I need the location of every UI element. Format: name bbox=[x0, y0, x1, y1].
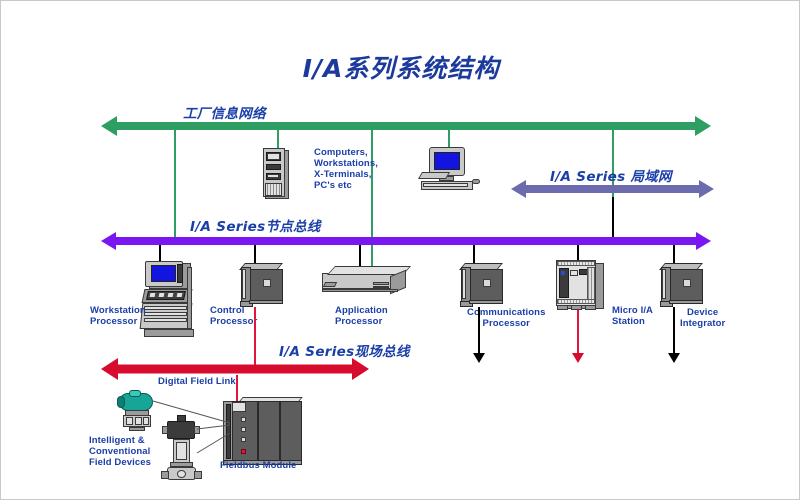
device-label-line2: Integrator bbox=[680, 318, 725, 329]
ia-fieldbus-label: I/A Series现场总线 bbox=[279, 340, 410, 360]
workstation-processor-label: Workstation Processor bbox=[90, 305, 146, 327]
arrow-head-left-icon bbox=[511, 180, 526, 198]
connector-line-communications-processor bbox=[473, 245, 475, 263]
computers-label-line4: PC's etc bbox=[314, 180, 378, 191]
micro-ia-station-label: Micro I/A Station bbox=[612, 305, 653, 327]
control-processor-label: Control Processor bbox=[210, 305, 257, 327]
computers-label-line1: Computers, bbox=[314, 147, 378, 158]
application-label-line1: Application bbox=[335, 305, 388, 316]
bus-shaft bbox=[115, 122, 697, 130]
connector-line-control-processor bbox=[254, 245, 256, 263]
connector-line-communications-downlink bbox=[478, 307, 480, 355]
workstation-label-line2: Processor bbox=[90, 316, 146, 327]
bus-shaft bbox=[525, 185, 700, 193]
connector-line-micro-downlink bbox=[577, 310, 579, 355]
arrow-head-left-icon bbox=[101, 358, 118, 380]
micro-label-line1: Micro I/A bbox=[612, 305, 653, 316]
device-label-line1: Device bbox=[680, 307, 725, 318]
arrow-head-right-icon bbox=[699, 180, 714, 198]
field-devices-label-line1: Intelligent & bbox=[89, 435, 151, 446]
computers-group-label: Computers, Workstations, X-Terminals, PC… bbox=[314, 147, 378, 191]
workstation-label-line1: Workstation bbox=[90, 305, 146, 316]
micro-label-line2: Station bbox=[612, 316, 653, 327]
field-devices-label: Intelligent & Conventional Field Devices bbox=[89, 435, 151, 468]
field-devices-label-line2: Conventional bbox=[89, 446, 151, 457]
arrow-head-right-icon bbox=[695, 116, 711, 136]
arrow-head-down-communications-icon bbox=[473, 353, 485, 363]
application-label-line2: Processor bbox=[335, 316, 388, 327]
control-label-line1: Control bbox=[210, 305, 257, 316]
connector-line-application-processor bbox=[359, 245, 361, 267]
arrow-head-down-micro-icon bbox=[572, 353, 584, 363]
ia-series-lan-bus bbox=[511, 180, 714, 198]
connector-line-device-integrator-downlink bbox=[673, 307, 675, 355]
connector-line-fieldbus-to-module bbox=[236, 375, 238, 401]
arrow-head-left-icon bbox=[101, 116, 117, 136]
application-processor-label: Application Processor bbox=[335, 305, 388, 327]
connector-line-micro-ia-station bbox=[577, 245, 579, 261]
arrow-head-down-device-icon bbox=[668, 353, 680, 363]
computers-label-line3: X-Terminals, bbox=[314, 169, 378, 180]
device-integrator-label: Device Integrator bbox=[680, 307, 725, 329]
fieldbus-module-label: Fieldbus Module bbox=[220, 460, 296, 471]
control-label-line2: Processor bbox=[210, 316, 257, 327]
field-devices-label-line3: Field Devices bbox=[89, 457, 151, 468]
arrow-head-right-icon bbox=[696, 232, 711, 250]
bus-shaft bbox=[115, 365, 355, 374]
connector-line-plant-to-nodebus-left bbox=[174, 126, 176, 241]
plant-information-network-bus bbox=[101, 116, 711, 136]
ia-series-nodebus-bus bbox=[101, 232, 711, 250]
arrow-head-right-icon bbox=[352, 358, 369, 380]
computers-label-line2: Workstations, bbox=[314, 158, 378, 169]
page-title: I/A系列系统结构 bbox=[1, 49, 800, 85]
digital-field-link-label: Digital Field Link bbox=[158, 376, 236, 387]
diagram-canvas: I/A系列系统结构 工厂信息网络 Computers, Workstations… bbox=[0, 0, 800, 500]
bus-shaft bbox=[115, 237, 697, 245]
connector-line-device-integrator bbox=[673, 245, 675, 263]
arrow-head-left-icon bbox=[101, 232, 116, 250]
